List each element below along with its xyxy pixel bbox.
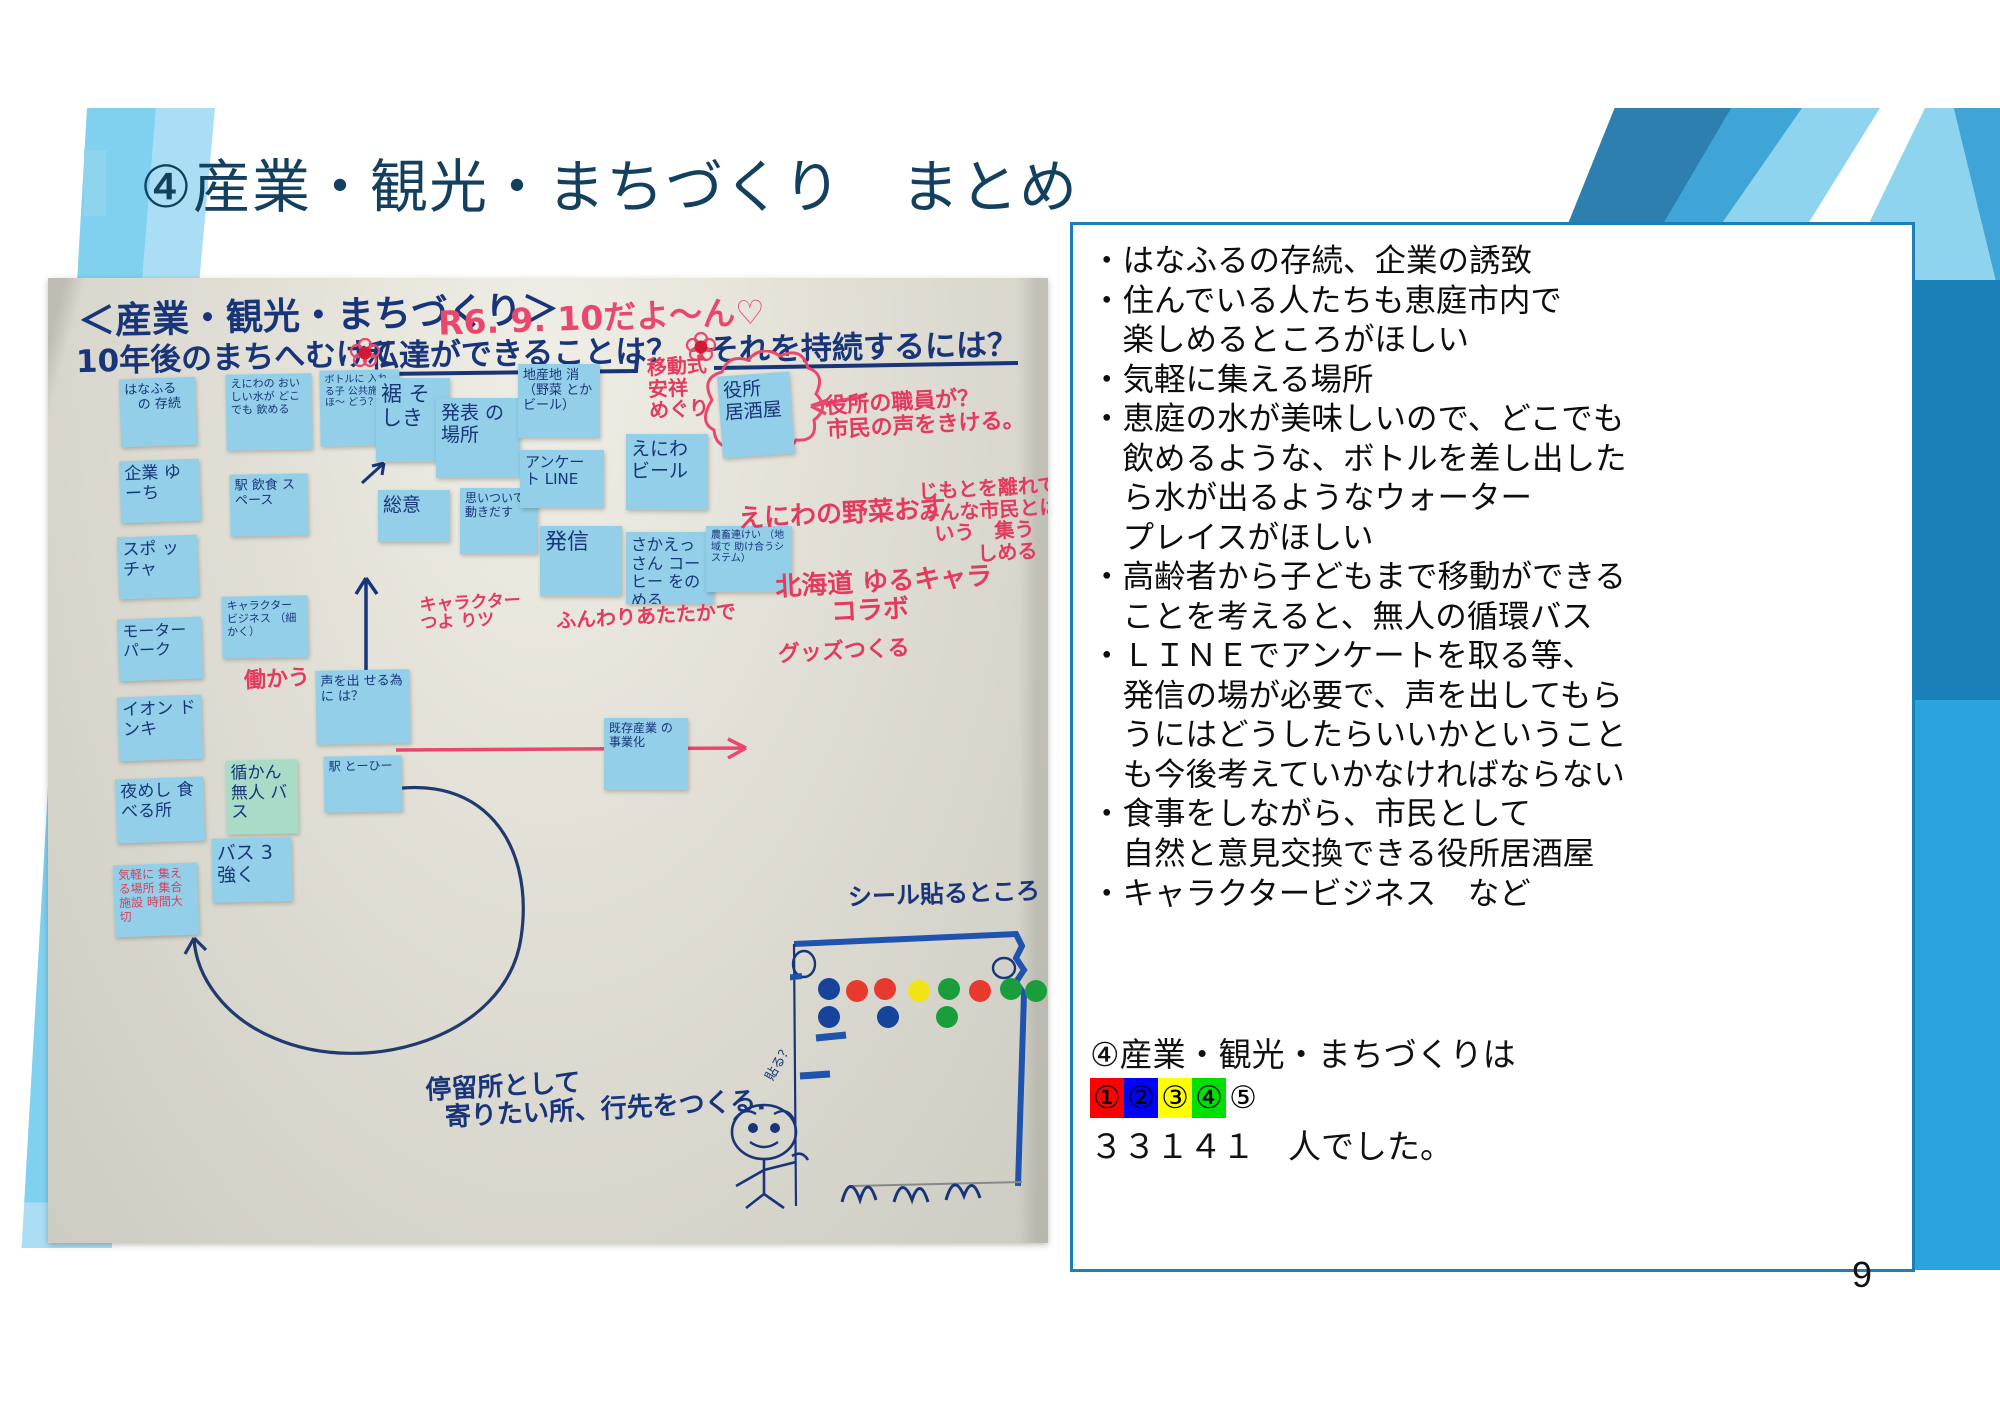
page-title: ④産業・観光・まちづくり まとめ: [140, 140, 1078, 224]
sticky-note: 駅 とーひー: [324, 755, 403, 812]
summary-bullet-line: ・キャラクタービジネス など: [1091, 874, 1898, 914]
page-number: 9: [1852, 1254, 1872, 1296]
sticker-dot: [874, 978, 896, 1000]
vote-summary-heading: ④産業・観光・まちづくりは: [1090, 1028, 1910, 1076]
sticker-dot: [1000, 978, 1022, 1000]
sticky-note: イオン ドンキ: [117, 695, 203, 762]
sticky-note: 地産地 消（野菜 とかビール）: [518, 364, 600, 438]
summary-bullet-line: 楽しめるところがほしい: [1091, 320, 1898, 360]
sticky-note: キャラクター ビジネス （細かく）: [221, 595, 308, 658]
summary-bullet-line: ・ＬＩＮＥでアンケートを取る等、: [1091, 636, 1898, 676]
sticky-note: 夜めし 食べる所: [115, 776, 205, 843]
doodle-squiggle: [838, 1158, 988, 1218]
summary-bullet-line: 発信の場が必要で、声を出してもら: [1091, 676, 1898, 716]
summary-bullet-line: ・高齢者から子どもまで移動ができる: [1091, 557, 1898, 597]
summary-bullet-line: ・住んでいる人たちも恵庭市内で: [1091, 281, 1898, 321]
sticky-note: モーター パーク: [117, 617, 203, 682]
summary-bullet-line: ら水が出るようなウォーター: [1091, 478, 1898, 518]
board-red-note: 北海道 ゆるキャラ コラボ: [775, 562, 995, 629]
summary-bullet-line: も今後考えていかなければならない: [1091, 755, 1898, 795]
vote-badge-1: ①: [1090, 1078, 1124, 1118]
sticky-note: 既存産業 の事業化: [604, 718, 688, 790]
sticky-note: さかえっさん コーヒー をのめる: [626, 532, 714, 604]
sticky-note: 企業 ゆーち: [119, 459, 201, 524]
slide: ④産業・観光・まちづくり まとめ ＜産業・観光・まちづくり＞ R6. 9. 10…: [0, 0, 2000, 1414]
summary-bullet-line: うにはどうしたらいいかということ: [1091, 715, 1898, 755]
board-blue-note: じもとを離れて みんな市民とは いう 集う しめる: [918, 474, 1048, 568]
summary-bullet-line: ・恵庭の水が美味しいので、どこでも: [1091, 399, 1898, 439]
summary-bullet-line: プレイスがほしい: [1091, 518, 1898, 558]
sticky-note: 役所 居酒屋: [717, 372, 795, 459]
whiteboard-photo: ＜産業・観光・まちづくり＞ R6. 9. 10だよ〜ん♡ 10年後のまちへむけて…: [48, 278, 1048, 1243]
board-red-note: 働かう: [243, 666, 310, 693]
sticky-note: 総意: [378, 490, 450, 542]
sticky-note: 気軽に 集える場所 集合施設 時間大切: [113, 863, 199, 938]
sticky-note: はなふる の 存続: [119, 377, 197, 448]
title-accent-bar: [84, 150, 106, 216]
board-red-note: キャラクター つよ りツ: [419, 591, 522, 633]
sticker-dot: [818, 1006, 840, 1028]
sticky-note: 駅 飲食 スペース: [229, 473, 308, 536]
deco-right-bar-dark: [1915, 280, 2000, 1270]
sticky-note: バス 3強く: [211, 837, 292, 902]
sticker-dot: [908, 980, 930, 1002]
summary-bullet-line: 自然と意見交換できる役所居酒屋: [1091, 834, 1898, 874]
summary-bullet-line: ・はなふるの存続、企業の誘致: [1091, 241, 1898, 281]
sticky-note: アンケート LINE: [520, 450, 604, 508]
vote-badge-3: ③: [1158, 1078, 1192, 1118]
vote-badge-2: ②: [1124, 1078, 1158, 1118]
sticker-dot: [936, 1006, 958, 1028]
sticky-note: 声を出 せる為に は？: [315, 669, 410, 745]
sticker-dot: [877, 1006, 899, 1028]
summary-bullet-line: ・食事をしながら、市民として: [1091, 794, 1898, 834]
summary-bullet-list: ・はなふるの存続、企業の誘致・住んでいる人たちも恵庭市内で 楽しめるところがほし…: [1091, 241, 1898, 913]
sticky-note: えにわ ビール: [626, 434, 708, 510]
sticker-dot: [818, 978, 840, 1000]
sticker-dot: [846, 980, 868, 1002]
vote-counts: ３３１４１ 人でした。: [1090, 1120, 1910, 1168]
summary-bullet-line: 飲めるような、ボトルを差し出した: [1091, 439, 1898, 479]
vote-badge-row: ①②③④⑤: [1090, 1078, 1910, 1118]
vote-badge-4: ④: [1192, 1078, 1226, 1118]
vote-badge-5: ⑤: [1226, 1078, 1260, 1118]
sticky-note: 発信: [540, 526, 622, 596]
summary-bullet-line: ことを考えると、無人の循環バス: [1091, 597, 1898, 637]
board-blue-note: 役所の職員が？ 市民の声をきける。: [825, 385, 1025, 443]
deco-right-bar-light: [1915, 700, 2000, 1270]
sticky-note: えにわの おいしい水が どこでも 飲める: [225, 373, 312, 450]
board-red-note: 移動式 安祥 めぐり: [646, 354, 709, 422]
sticky-note: 発表 の 場所: [436, 398, 520, 478]
sticky-note: スポ ッチャ: [117, 535, 199, 600]
vote-summary: ④産業・観光・まちづくりは ①②③④⑤ ３３１４１ 人でした。: [1090, 1028, 1910, 1168]
sticky-note: 循かん 無人 バス: [225, 759, 298, 834]
summary-bullet-line: ・気軽に集える場所: [1091, 360, 1898, 400]
